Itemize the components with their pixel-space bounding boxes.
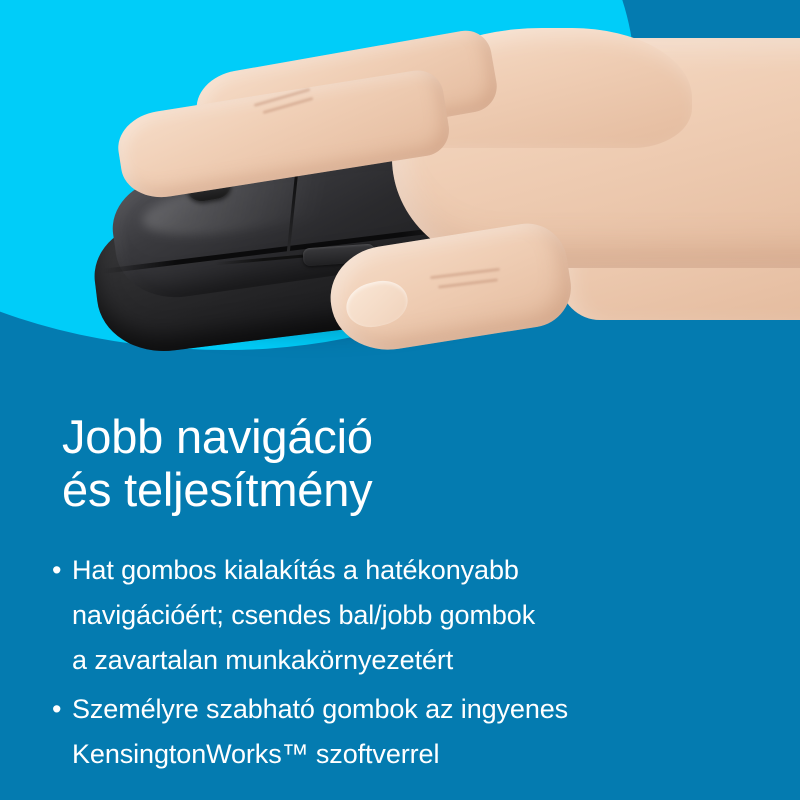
hero-image: [0, 0, 800, 400]
text-panel: Jobb navigáció és teljesítmény • Hat gom…: [0, 398, 800, 800]
feature-list: • Hat gombos kialakítás a hatékonyabb na…: [52, 548, 752, 781]
bullet-marker-icon: •: [52, 548, 72, 593]
bullet-marker-icon: •: [52, 687, 72, 732]
product-photo: [0, 0, 800, 400]
list-item-text: Hat gombos kialakítás a hatékonyabb navi…: [72, 548, 535, 683]
promo-slide: Jobb navigáció és teljesítmény • Hat gom…: [0, 0, 800, 800]
list-item-text: Személyre szabható gombok az ingyenes Ke…: [72, 687, 568, 777]
human-hand: [0, 0, 800, 400]
list-item: • Hat gombos kialakítás a hatékonyabb na…: [52, 548, 752, 683]
headline: Jobb navigáció és teljesítmény: [62, 410, 742, 516]
list-item: • Személyre szabható gombok az ingyenes …: [52, 687, 752, 777]
